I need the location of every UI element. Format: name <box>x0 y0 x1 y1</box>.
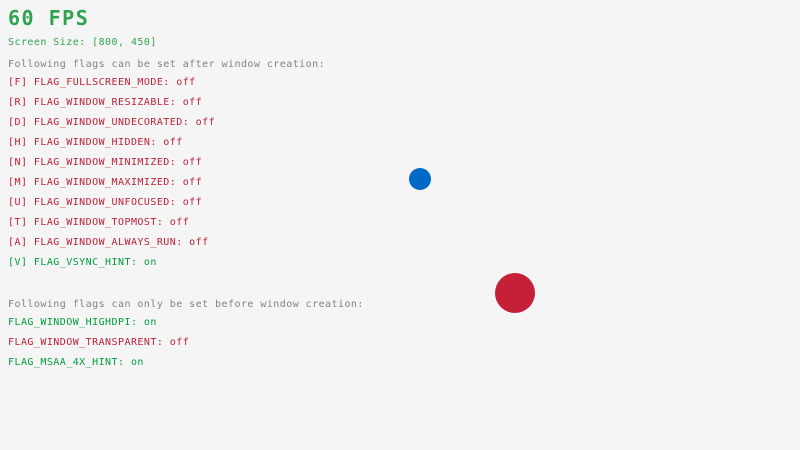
blue-circle-shape <box>409 168 431 190</box>
flag-toggle-flag-window-undecorated[interactable]: [D] FLAG_WINDOW_UNDECORATED: off <box>8 118 215 128</box>
red-circle-shape <box>495 273 535 313</box>
fps-counter: 60 FPS <box>8 8 89 28</box>
flag-toggle-flag-vsync-hint[interactable]: [V] FLAG_VSYNC_HINT: on <box>8 258 157 268</box>
flag-static-flag-window-transparent[interactable]: FLAG_WINDOW_TRANSPARENT: off <box>8 338 189 348</box>
section-heading-after-creation: Following flags can be set after window … <box>8 60 325 70</box>
flag-static-flag-window-highdpi[interactable]: FLAG_WINDOW_HIGHDPI: on <box>8 318 157 328</box>
flag-toggle-flag-window-always-run[interactable]: [A] FLAG_WINDOW_ALWAYS_RUN: off <box>8 238 209 248</box>
flag-toggle-flag-window-hidden[interactable]: [H] FLAG_WINDOW_HIDDEN: off <box>8 138 183 148</box>
section-heading-before-creation: Following flags can only be set before w… <box>8 300 364 310</box>
flag-toggle-flag-window-resizable[interactable]: [R] FLAG_WINDOW_RESIZABLE: off <box>8 98 202 108</box>
raylib-window-canvas[interactable]: 60 FPS Screen Size: [800, 450] Following… <box>0 0 800 450</box>
screen-size-label: Screen Size: [800, 450] <box>8 38 157 48</box>
flag-static-flag-msaa-4x-hint[interactable]: FLAG_MSAA_4X_HINT: on <box>8 358 144 368</box>
flag-toggle-flag-fullscreen-mode[interactable]: [F] FLAG_FULLSCREEN_MODE: off <box>8 78 196 88</box>
flag-toggle-flag-window-minimized[interactable]: [N] FLAG_WINDOW_MINIMIZED: off <box>8 158 202 168</box>
flag-toggle-flag-window-topmost[interactable]: [T] FLAG_WINDOW_TOPMOST: off <box>8 218 189 228</box>
flag-toggle-flag-window-maximized[interactable]: [M] FLAG_WINDOW_MAXIMIZED: off <box>8 178 202 188</box>
flag-toggle-flag-window-unfocused[interactable]: [U] FLAG_WINDOW_UNFOCUSED: off <box>8 198 202 208</box>
